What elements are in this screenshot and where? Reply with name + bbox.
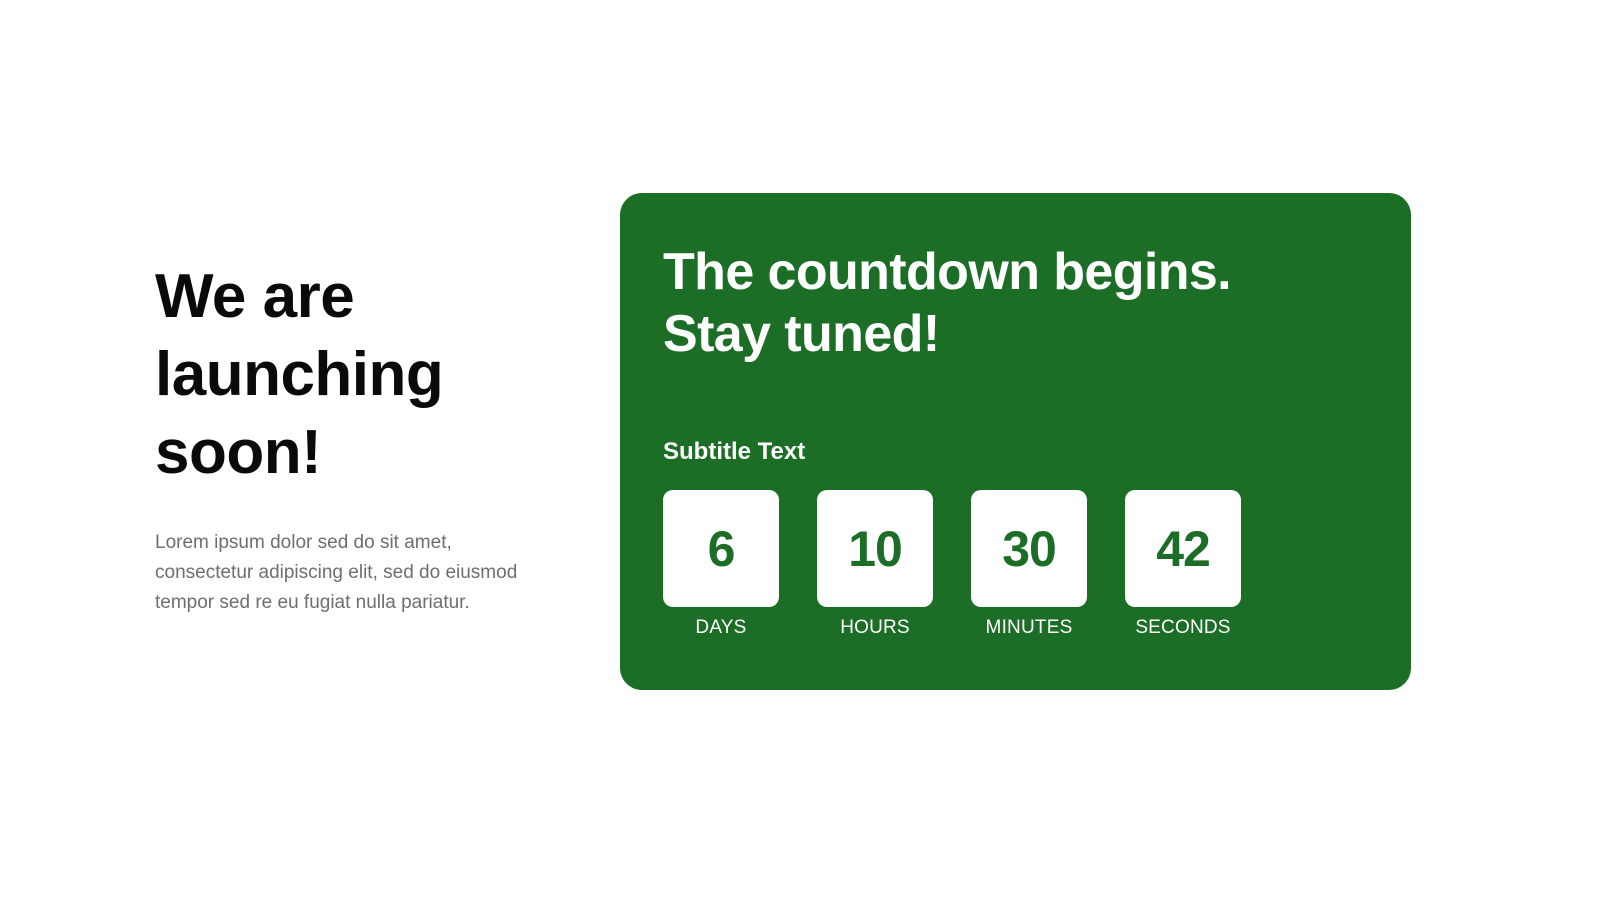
- page-title: We are launching soon!: [155, 258, 495, 492]
- intro-paragraph: Lorem ipsum dolor sed do sit amet, conse…: [155, 492, 545, 618]
- countdown-subtitle: Subtitle Text: [663, 365, 1368, 467]
- countdown-timer: 6 DAYS 10 HOURS 30 MINUTES 42: [663, 467, 1368, 640]
- timer-label-minutes: MINUTES: [986, 607, 1073, 640]
- timer-box-days: 6: [663, 490, 779, 607]
- timer-unit-hours: 10 HOURS: [817, 490, 933, 640]
- timer-label-days: DAYS: [695, 607, 746, 640]
- countdown-heading: The countdown begins. Stay tuned!: [663, 241, 1303, 365]
- timer-box-hours: 10: [817, 490, 933, 607]
- timer-box-seconds: 42: [1125, 490, 1241, 607]
- timer-unit-days: 6 DAYS: [663, 490, 779, 640]
- timer-box-minutes: 30: [971, 490, 1087, 607]
- timer-label-seconds: SECONDS: [1135, 607, 1230, 640]
- timer-value-minutes: 30: [1002, 524, 1056, 574]
- intro-section: We are launching soon! Lorem ipsum dolor…: [155, 258, 555, 618]
- timer-value-days: 6: [708, 524, 735, 574]
- countdown-card: The countdown begins. Stay tuned! Subtit…: [620, 193, 1411, 690]
- timer-label-hours: HOURS: [840, 607, 910, 640]
- launch-countdown-page: We are launching soon! Lorem ipsum dolor…: [0, 0, 1600, 900]
- timer-value-seconds: 42: [1156, 524, 1210, 574]
- timer-unit-seconds: 42 SECONDS: [1125, 490, 1241, 640]
- timer-value-hours: 10: [848, 524, 902, 574]
- timer-unit-minutes: 30 MINUTES: [971, 490, 1087, 640]
